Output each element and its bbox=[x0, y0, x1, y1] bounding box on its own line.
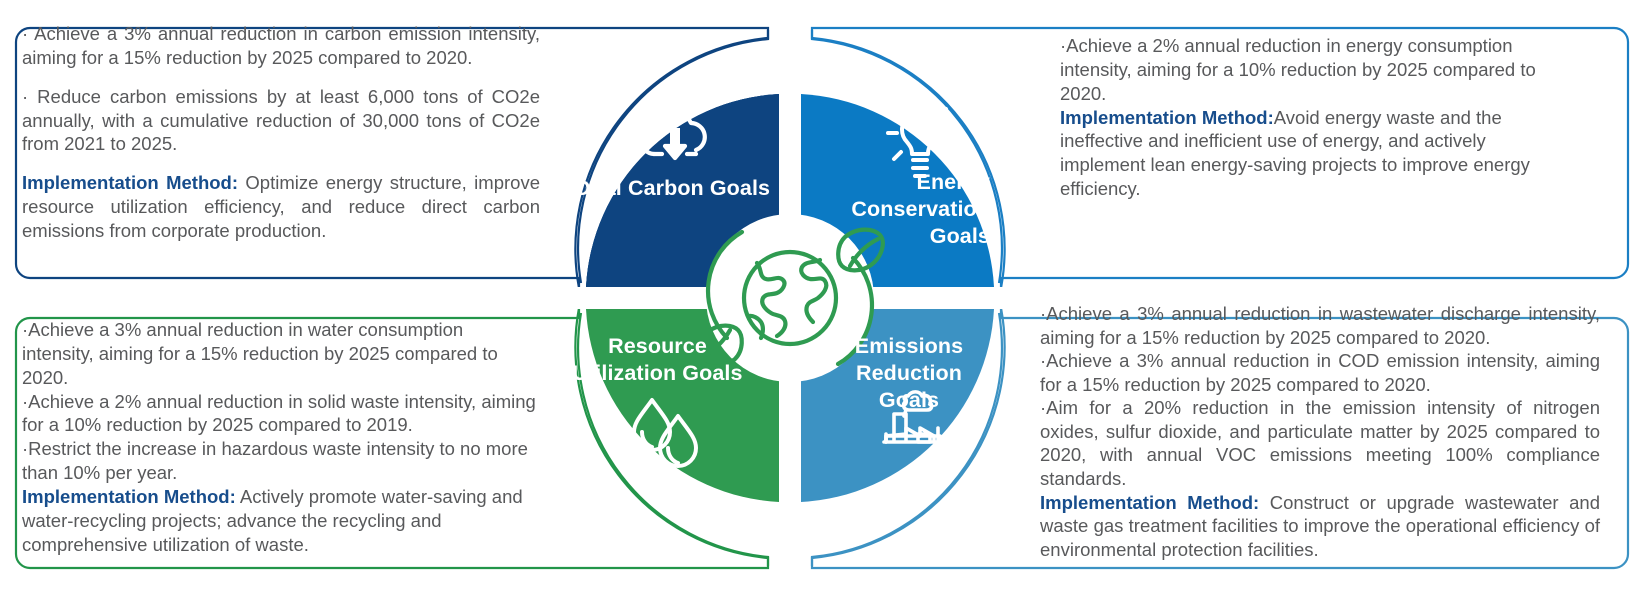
quadrant-label-energy-line1: Energy bbox=[845, 169, 990, 196]
quadrant-label-resource-line2: Utilization Goals bbox=[565, 360, 750, 387]
spacer bbox=[22, 156, 540, 171]
quadrant-label-resource[interactable]: Resource Utilization Goals bbox=[565, 333, 750, 387]
panel-tl-bullet-1: · Achieve a 3% annual reduction in carbo… bbox=[22, 22, 540, 70]
panel-emissions-text: ·Achieve a 3% annual reduction in wastew… bbox=[1040, 302, 1600, 582]
panel-tr-bullet-1: ·Achieve a 2% annual reduction in energy… bbox=[1060, 34, 1560, 106]
panel-br-bullet-1: ·Achieve a 3% annual reduction in wastew… bbox=[1040, 302, 1600, 349]
quadrant-label-energy-line2: Conservation bbox=[845, 196, 990, 223]
panel-dual-carbon-text: · Achieve a 3% annual reduction in carbo… bbox=[22, 22, 540, 258]
panel-br-bullet-3: ·Aim for a 20% reduction in the emission… bbox=[1040, 396, 1600, 490]
quadrant-label-emissions[interactable]: Emissions Reduction Goals bbox=[828, 333, 990, 414]
panel-tl-bullet-2: · Reduce carbon emissions by at least 6,… bbox=[22, 85, 540, 157]
panel-bl-bullet-1: ·Achieve a 3% annual reduction in water … bbox=[22, 318, 538, 390]
panel-bl-bullet-2: ·Achieve a 2% annual reduction in solid … bbox=[22, 390, 538, 438]
panel-bl-bullet-3: ·Restrict the increase in hazardous wast… bbox=[22, 437, 538, 485]
panel-tl-method: Implementation Method: Optimize energy s… bbox=[22, 171, 540, 243]
panel-bl-method: Implementation Method: Actively promote … bbox=[22, 485, 538, 557]
quadrant-label-emissions-line2: Reduction Goals bbox=[828, 360, 990, 414]
panel-br-method-label: Implementation Method: bbox=[1040, 492, 1259, 513]
spacer bbox=[22, 70, 540, 85]
panel-tr-method-label: Implementation Method: bbox=[1060, 107, 1274, 128]
panel-resource-text: ·Achieve a 3% annual reduction in water … bbox=[22, 318, 538, 568]
quadrant-label-resource-line1: Resource bbox=[565, 333, 750, 360]
infographic-root: Dual Carbon Goals Energy Conservation Go… bbox=[0, 0, 1643, 596]
panel-bl-method-label: Implementation Method: bbox=[22, 486, 236, 507]
panel-tl-method-label: Implementation Method: bbox=[22, 172, 238, 193]
quadrant-label-energy-line3: Goals bbox=[845, 223, 990, 250]
quadrant-label-emissions-line1: Emissions bbox=[828, 333, 990, 360]
quadrant-label-dual-carbon[interactable]: Dual Carbon Goals bbox=[565, 175, 780, 202]
panel-tr-method: Implementation Method:Avoid energy waste… bbox=[1060, 106, 1560, 201]
panel-br-method: Implementation Method: Construct or upgr… bbox=[1040, 491, 1600, 562]
panel-energy-text: ·Achieve a 2% annual reduction in energy… bbox=[1060, 34, 1560, 249]
panel-br-bullet-2: ·Achieve a 3% annual reduction in COD em… bbox=[1040, 349, 1600, 396]
quadrant-label-energy[interactable]: Energy Conservation Goals bbox=[845, 169, 990, 250]
